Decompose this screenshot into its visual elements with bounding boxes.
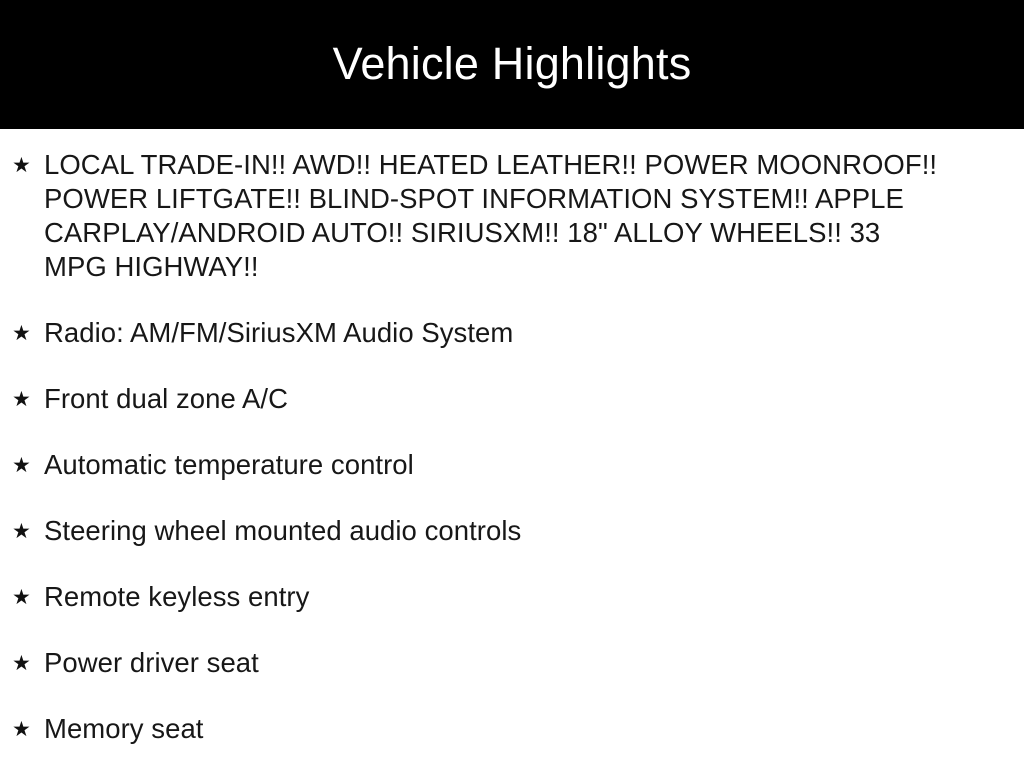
star-icon: ★ [12,514,32,548]
list-item: ★ Memory seat [0,680,1024,746]
list-item: ★ Front dual zone A/C [0,350,1024,416]
list-item-label: Automatic temperature control [44,448,944,482]
list-item: ★ Steering wheel mounted audio controls [0,482,1024,548]
list-item-label: Front dual zone A/C [44,382,944,416]
list-item-label: Radio: AM/FM/SiriusXM Audio System [44,316,944,350]
page-header: Vehicle Highlights [0,0,1024,129]
list-item-label: LOCAL TRADE-IN!! AWD!! HEATED LEATHER!! … [44,148,939,284]
list-item-label: Memory seat [44,712,944,746]
list-item-label: Remote keyless entry [44,580,944,614]
list-item: ★ LOCAL TRADE-IN!! AWD!! HEATED LEATHER!… [0,129,1024,284]
star-icon: ★ [12,646,32,680]
star-icon: ★ [12,712,32,746]
list-item: ★ Automatic temperature control [0,416,1024,482]
page-title: Vehicle Highlights [333,39,692,89]
list-item: ★ Remote keyless entry [0,548,1024,614]
star-icon: ★ [12,580,32,614]
vehicle-highlights-page: Vehicle Highlights ★ LOCAL TRADE-IN!! AW… [0,0,1024,768]
list-item-label: Steering wheel mounted audio controls [44,514,944,548]
star-icon: ★ [12,448,32,482]
star-icon: ★ [12,316,32,350]
star-icon: ★ [12,148,32,182]
star-icon: ★ [12,382,32,416]
list-item: ★ Power driver seat [0,614,1024,680]
list-item-label: Power driver seat [44,646,944,680]
vehicle-highlights-list: ★ LOCAL TRADE-IN!! AWD!! HEATED LEATHER!… [0,129,1024,746]
list-item: ★ Radio: AM/FM/SiriusXM Audio System [0,284,1024,350]
